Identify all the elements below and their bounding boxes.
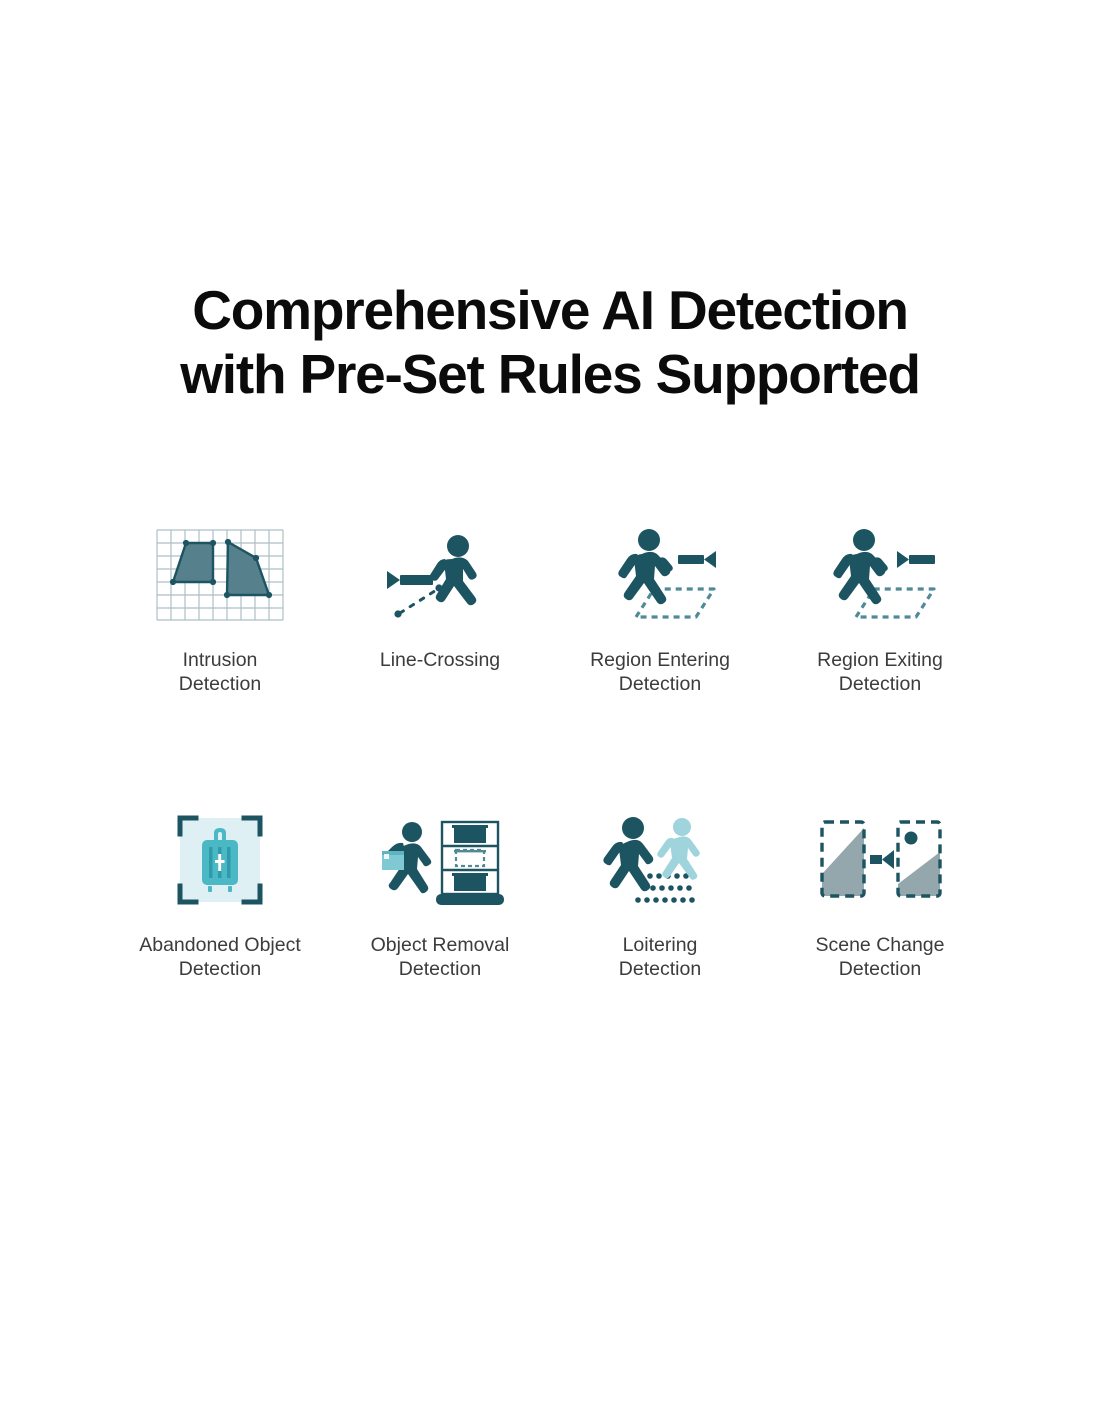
feature-caption: Region Entering Detection	[590, 648, 730, 696]
loitering-icon	[590, 805, 730, 915]
page-title-line-2: with Pre-Set Rules Supported	[0, 342, 1100, 406]
region-exiting-icon	[810, 520, 950, 630]
object-removal-icon	[370, 805, 510, 915]
feature-label-line-2: Detection	[815, 957, 944, 981]
feature-label-line-2: Detection	[139, 957, 301, 981]
feature-caption: Line-Crossing	[380, 648, 500, 672]
feature-region-exiting: Region Exiting Detection	[770, 520, 990, 805]
line-crossing-icon	[370, 520, 510, 630]
feature-scene-change: Scene Change Detection	[770, 805, 990, 1090]
detection-feature-grid: Intrusion Detection	[110, 520, 990, 1090]
feature-label-line-2: Detection	[817, 672, 943, 696]
region-entering-icon	[590, 520, 730, 630]
feature-caption: Scene Change Detection	[815, 933, 944, 981]
feature-label-line-1: Abandoned Object	[139, 934, 301, 956]
feature-label-line-2: Detection	[590, 672, 730, 696]
page-title-line-1: Comprehensive AI Detection	[0, 278, 1100, 342]
feature-intrusion-detection: Intrusion Detection	[110, 520, 330, 805]
feature-label-line-1: Intrusion	[183, 649, 258, 671]
feature-label-line-1: Line-Crossing	[380, 649, 500, 671]
feature-caption: Region Exiting Detection	[817, 648, 943, 696]
feature-abandoned-object: Abandoned Object Detection	[110, 805, 330, 1090]
feature-label-line-1: Scene Change	[815, 934, 944, 956]
feature-label-line-1: Object Removal	[371, 934, 510, 956]
feature-label-line-1: Loitering	[623, 934, 698, 956]
feature-caption: Abandoned Object Detection	[139, 933, 301, 981]
feature-label-line-2: Detection	[619, 957, 701, 981]
feature-caption: Intrusion Detection	[179, 648, 261, 696]
abandoned-object-icon	[150, 805, 290, 915]
intrusion-detection-icon	[150, 520, 290, 630]
feature-region-entering: Region Entering Detection	[550, 520, 770, 805]
page-title: Comprehensive AI Detection with Pre-Set …	[0, 278, 1100, 406]
feature-caption: Object Removal Detection	[371, 933, 510, 981]
feature-label-line-1: Region Entering	[590, 649, 730, 671]
feature-loitering: Loitering Detection	[550, 805, 770, 1090]
feature-label-line-2: Detection	[179, 672, 261, 696]
feature-label-line-2: Detection	[371, 957, 510, 981]
feature-caption: Loitering Detection	[619, 933, 701, 981]
feature-line-crossing: Line-Crossing	[330, 520, 550, 805]
scene-change-icon	[810, 805, 950, 915]
feature-object-removal: Object Removal Detection	[330, 805, 550, 1090]
feature-label-line-1: Region Exiting	[817, 649, 943, 671]
page-root: Comprehensive AI Detection with Pre-Set …	[0, 0, 1100, 1422]
